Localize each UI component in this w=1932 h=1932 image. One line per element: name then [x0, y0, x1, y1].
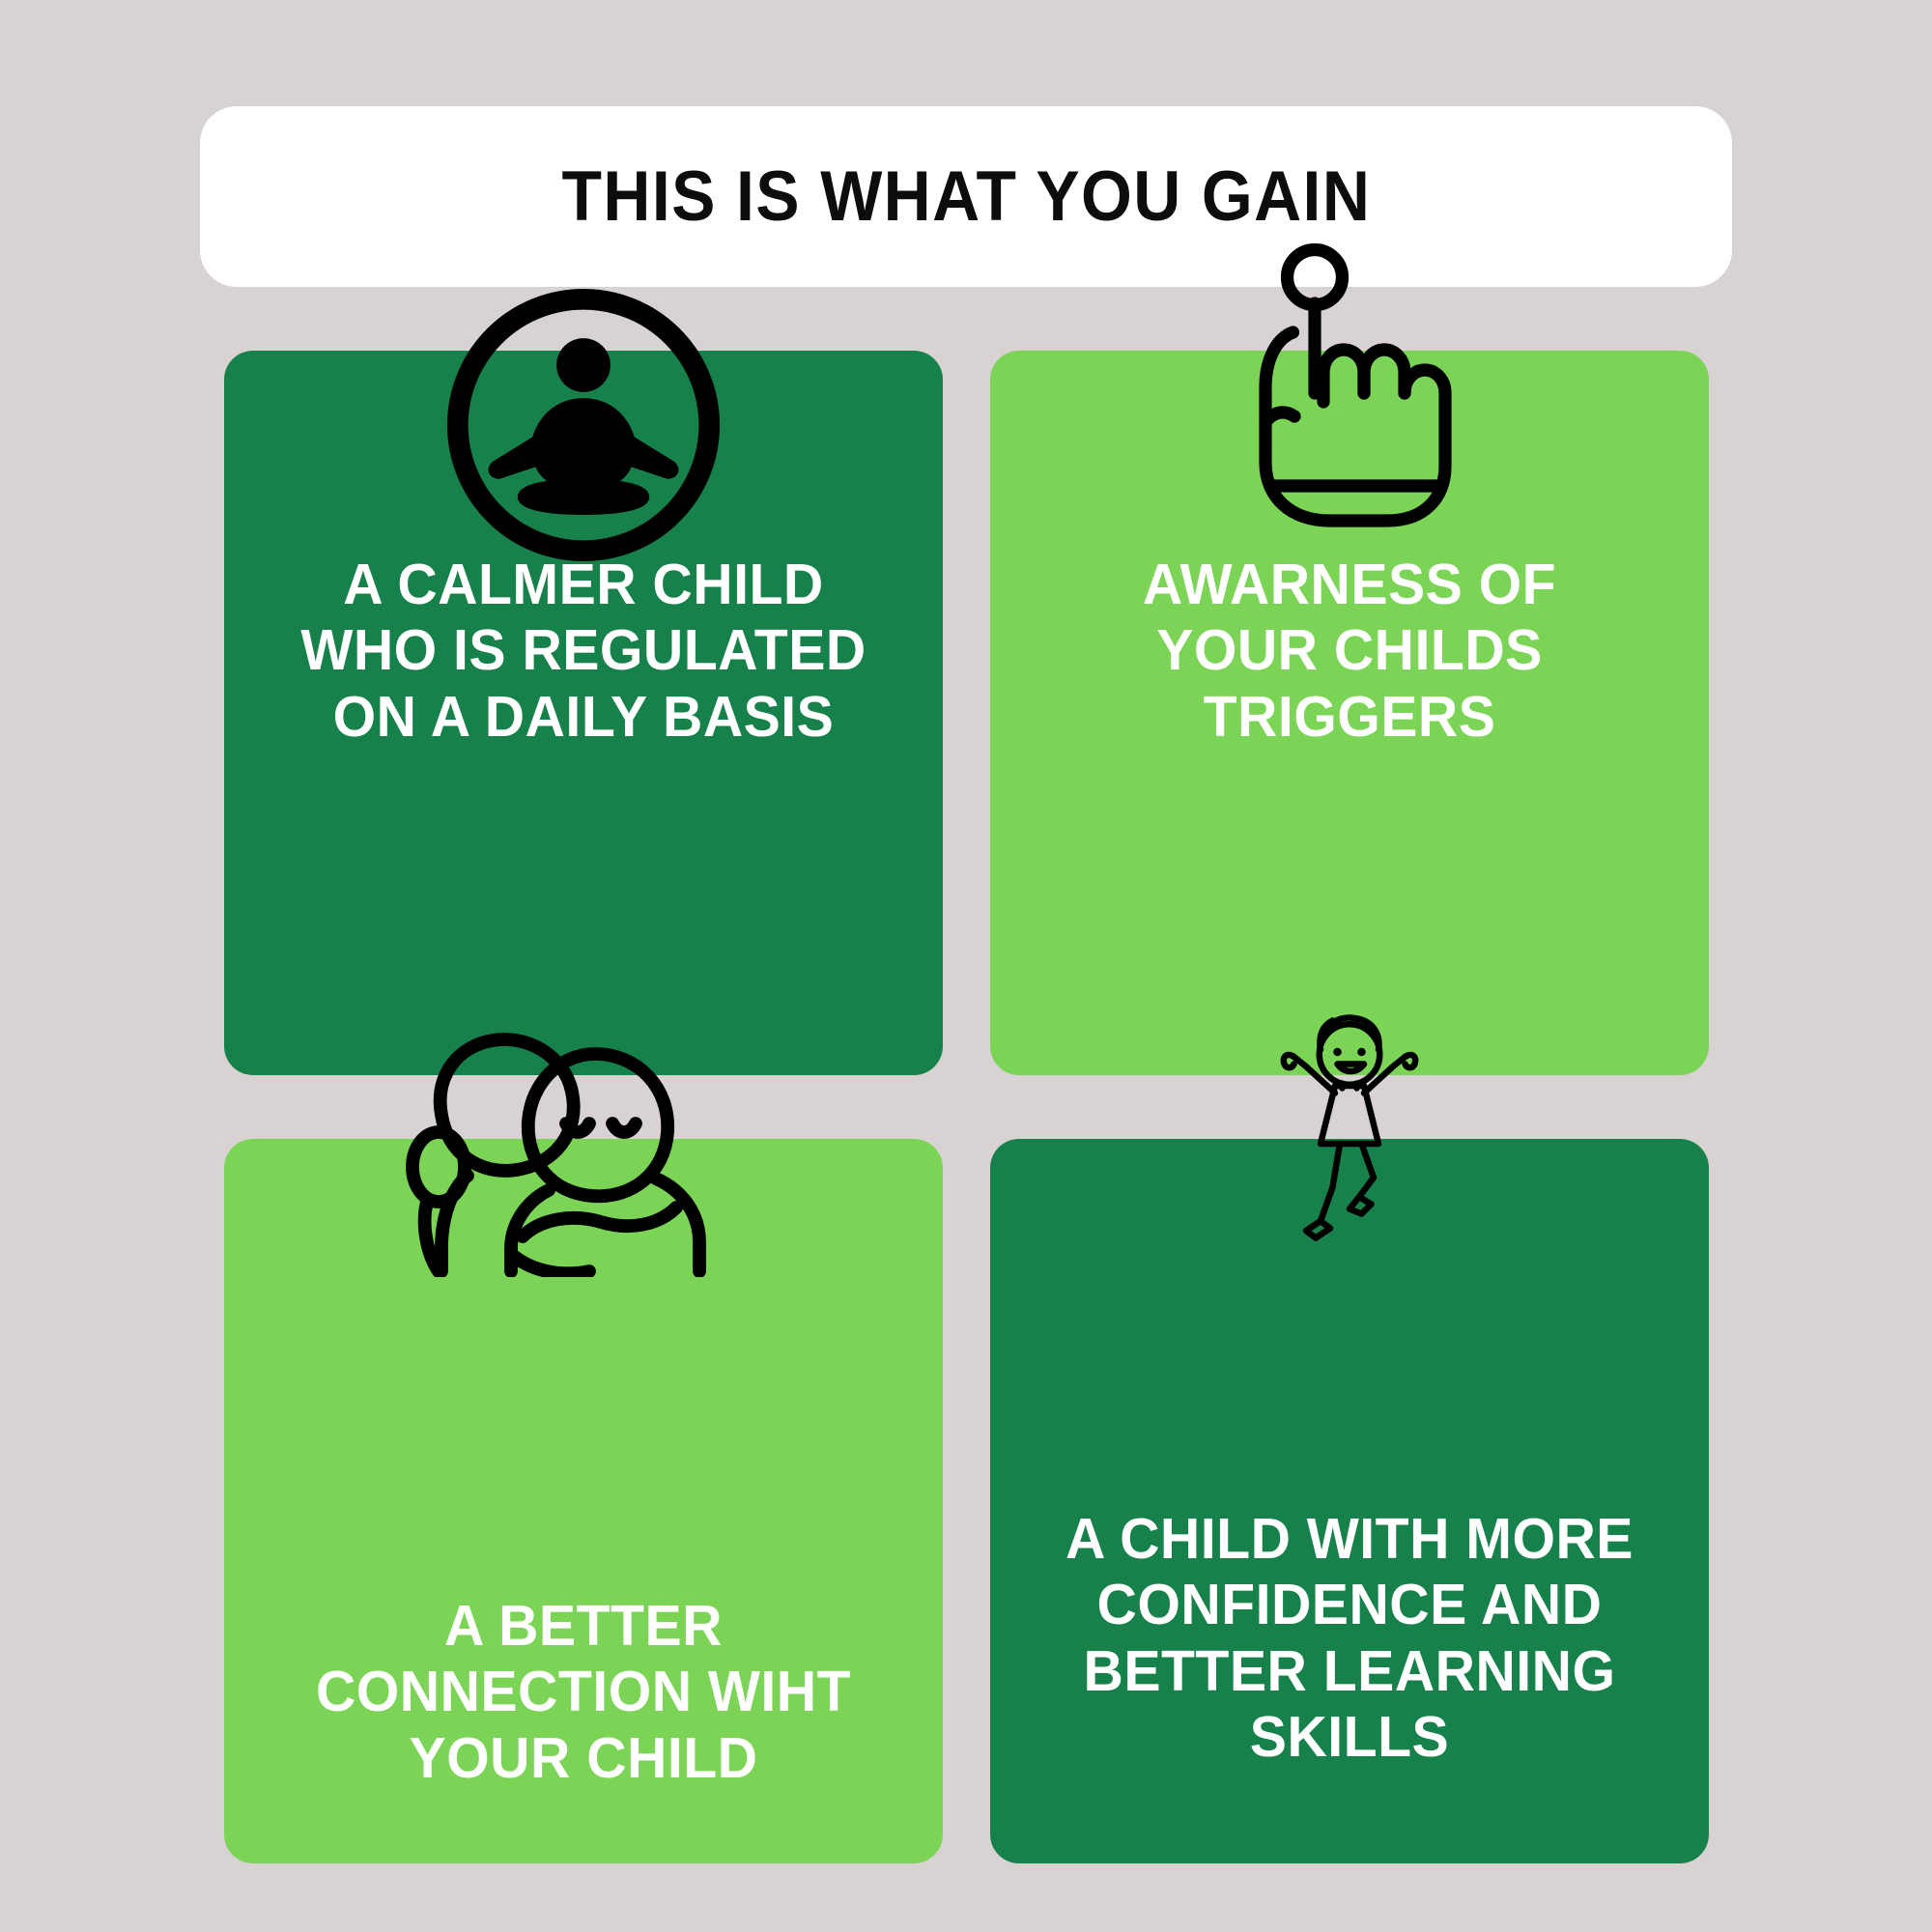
- benefit-card-confidence-learning[interactable]: A CHILD WITH MORE CONFIDENCE AND BETTER …: [990, 1139, 1709, 1863]
- card-line: A CALMER CHILD: [259, 552, 907, 617]
- card-line: YOUR CHILDS: [1025, 617, 1673, 683]
- meditating-person-icon: [434, 275, 733, 580]
- pointing-hand-icon: [1219, 242, 1480, 566]
- card-line: BETTER LEARNING: [1025, 1638, 1673, 1704]
- header-banner: THIS IS WHAT YOU GAIN: [200, 106, 1732, 287]
- hug-icon: [381, 1016, 728, 1282]
- benefit-card-label: A CHILD WITH MORE CONFIDENCE AND BETTER …: [1001, 1506, 1698, 1771]
- benefit-card-awareness-triggers[interactable]: AWARNESS OF YOUR CHILDS TRIGGERS: [990, 351, 1709, 1075]
- card-line: AWARNESS OF: [1025, 552, 1673, 617]
- card-line: TRIGGERS: [1025, 684, 1673, 750]
- card-line: YOUR CHILD: [259, 1725, 907, 1791]
- card-line: A CHILD WITH MORE: [1025, 1506, 1673, 1572]
- benefit-card-label: A BETTER CONNECTION WIHT YOUR CHILD: [235, 1593, 932, 1791]
- infographic-canvas: THIS IS WHAT YOU GAIN A CALMER CHILD WHO…: [0, 0, 1932, 1932]
- benefit-card-better-connection[interactable]: A BETTER CONNECTION WIHT YOUR CHILD: [224, 1139, 943, 1863]
- card-line: SKILLS: [1025, 1704, 1673, 1770]
- page-title: THIS IS WHAT YOU GAIN: [561, 156, 1371, 237]
- dancing-child-icon: [1253, 1013, 1446, 1260]
- benefits-grid: A CALMER CHILD WHO IS REGULATED ON A DAI…: [224, 351, 1709, 1863]
- card-line: CONNECTION WIHT: [259, 1659, 907, 1724]
- benefit-card-label: A CALMER CHILD WHO IS REGULATED ON A DAI…: [235, 552, 932, 750]
- benefit-card-label: AWARNESS OF YOUR CHILDS TRIGGERS: [1001, 552, 1698, 750]
- benefit-card-calmer-child[interactable]: A CALMER CHILD WHO IS REGULATED ON A DAI…: [224, 351, 943, 1075]
- card-line: CONFIDENCE AND: [1025, 1572, 1673, 1637]
- card-line: A BETTER: [259, 1593, 907, 1659]
- card-line: ON A DAILY BASIS: [259, 684, 907, 750]
- card-line: WHO IS REGULATED: [259, 617, 907, 683]
